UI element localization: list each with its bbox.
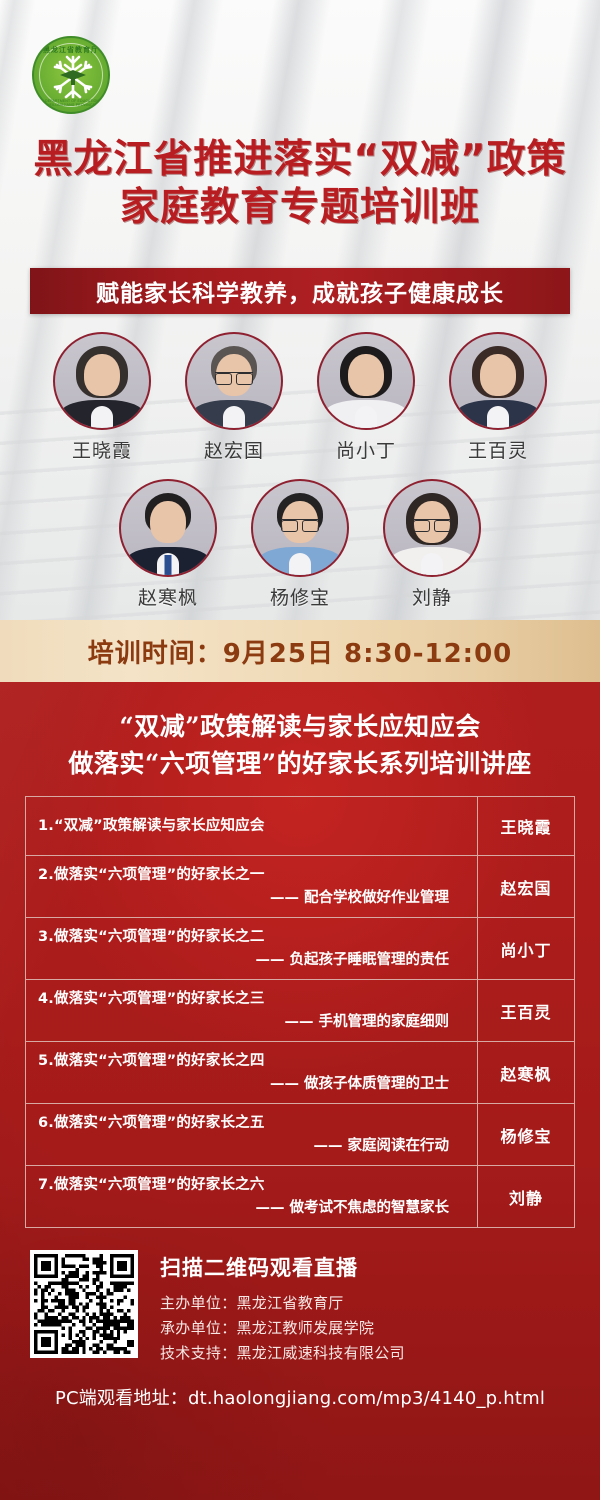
title-line-1: 黑龙江省推进落实“双减”政策	[0, 136, 600, 184]
speaker-portrait	[449, 332, 547, 430]
speaker-card: 刘静	[380, 479, 484, 610]
speaker-name: 王百灵	[446, 436, 550, 463]
portrait-face	[150, 501, 186, 543]
topic-speaker: 王百灵	[478, 980, 574, 1041]
pc-watch-url[interactable]: PC端观看地址：dt.haolongjiang.com/mp3/4140_p.h…	[0, 1384, 600, 1410]
topic-subtitle: —— 家庭阅读在行动	[38, 1136, 467, 1156]
speaker-card: 赵寒枫	[116, 479, 220, 610]
topic-cell: 6.做落实“六项管理”的好家长之五—— 家庭阅读在行动	[26, 1104, 478, 1165]
speaker-row-2: 赵寒枫杨修宝刘静	[0, 479, 600, 610]
training-time-banner: 培训时间：9月25日 8:30-12:00	[0, 620, 600, 682]
subtitle-text: 赋能家长科学教养，成就孩子健康成长	[96, 274, 504, 308]
speakers-section: 王晓霞赵宏国尚小丁王百灵 赵寒枫杨修宝刘静	[0, 332, 600, 610]
topic-cell: 1.“双减”政策解读与家长应知应会	[26, 797, 478, 855]
speaker-card: 赵宏国	[182, 332, 286, 463]
table-row: 5.做落实“六项管理”的好家长之四—— 做孩子体质管理的卫士赵寒枫	[26, 1042, 574, 1104]
logo-disc: 黑龙江省教育厅	[32, 36, 110, 114]
speaker-card: 尚小丁	[314, 332, 418, 463]
topic-cell: 5.做落实“六项管理”的好家长之四—— 做孩子体质管理的卫士	[26, 1042, 478, 1103]
speaker-portrait	[119, 479, 217, 577]
topic-speaker: 王晓霞	[478, 797, 574, 855]
table-row: 1.“双减”政策解读与家长应知应会王晓霞	[26, 797, 574, 856]
topic-title: 1.“双减”政策解读与家长应知应会	[38, 816, 467, 836]
topic-title: 3.做落实“六项管理”的好家长之二	[38, 927, 467, 947]
topic-speaker: 刘静	[478, 1166, 574, 1227]
program-heading: “双减”政策解读与家长应知应会 做落实“六项管理”的好家长系列培训讲座	[0, 682, 600, 782]
speaker-card: 杨修宝	[248, 479, 352, 610]
subtitle-banner: 赋能家长科学教养，成就孩子健康成长	[30, 268, 570, 314]
program-heading-line-1: “双减”政策解读与家长应知应会	[0, 708, 600, 745]
portrait-face	[480, 354, 516, 396]
topic-cell: 7.做落实“六项管理”的好家长之六—— 做考试不焦虑的智慧家长	[26, 1166, 478, 1227]
topic-speaker: 赵寒枫	[478, 1042, 574, 1103]
speaker-portrait	[185, 332, 283, 430]
speaker-name: 杨修宝	[248, 583, 352, 610]
portrait-collar	[421, 553, 443, 575]
portrait-collar	[91, 406, 113, 428]
table-row: 7.做落实“六项管理”的好家长之六—— 做考试不焦虑的智慧家长刘静	[26, 1166, 574, 1227]
topic-title: 4.做落实“六项管理”的好家长之三	[38, 989, 467, 1009]
speaker-name: 赵寒枫	[116, 583, 220, 610]
qr-code-livestream[interactable]	[30, 1250, 138, 1358]
qr-code-image	[34, 1254, 134, 1354]
topic-subtitle: —— 做考试不焦虑的智慧家长	[38, 1198, 467, 1218]
topic-cell: 2.做落实“六项管理”的好家长之一—— 配合学校做好作业管理	[26, 856, 478, 917]
topic-subtitle: —— 手机管理的家庭细则	[38, 1012, 467, 1032]
table-row: 6.做落实“六项管理”的好家长之五—— 家庭阅读在行动杨修宝	[26, 1104, 574, 1166]
topic-subtitle: —— 配合学校做好作业管理	[38, 888, 467, 908]
training-time-text: 培训时间：9月25日 8:30-12:00	[88, 633, 513, 670]
program-heading-line-2: 做落实“六项管理”的好家长系列培训讲座	[0, 745, 600, 782]
speaker-row-1: 王晓霞赵宏国尚小丁王百灵	[0, 332, 600, 463]
table-row: 4.做落实“六项管理”的好家长之三—— 手机管理的家庭细则王百灵	[26, 980, 574, 1042]
topic-subtitle: —— 负起孩子睡眠管理的责任	[38, 950, 467, 970]
speaker-name: 尚小丁	[314, 436, 418, 463]
co-organizer-line: 承办单位：黑龙江教师发展学院	[160, 1316, 405, 1341]
portrait-face	[84, 354, 120, 396]
organization-logo: 黑龙江省教育厅	[32, 36, 110, 114]
footer-section: 扫描二维码观看直播 主办单位：黑龙江省教育厅 承办单位：黑龙江教师发展学院 技术…	[0, 1250, 600, 1366]
tech-support-line: 技术支持：黑龙江威速科技有限公司	[160, 1341, 405, 1366]
scan-qr-title: 扫描二维码观看直播	[160, 1252, 405, 1282]
portrait-glasses	[413, 519, 451, 530]
organizer-line: 主办单位：黑龙江省教育厅	[160, 1291, 405, 1316]
speaker-card: 王百灵	[446, 332, 550, 463]
speaker-name: 王晓霞	[50, 436, 154, 463]
poster-root: 黑龙江省教育厅	[0, 0, 600, 1500]
portrait-collar	[223, 406, 245, 428]
program-section: “双减”政策解读与家长应知应会 做落实“六项管理”的好家长系列培训讲座 1.“双…	[0, 682, 600, 1500]
topic-cell: 4.做落实“六项管理”的好家长之三—— 手机管理的家庭细则	[26, 980, 478, 1041]
snowflake-graduation-icon	[45, 51, 101, 103]
table-row: 3.做落实“六项管理”的好家长之二—— 负起孩子睡眠管理的责任尚小丁	[26, 918, 574, 980]
portrait-glasses	[281, 519, 319, 530]
topic-speaker: 杨修宝	[478, 1104, 574, 1165]
poster-title: 黑龙江省推进落实“双减”政策 家庭教育专题培训班	[0, 136, 600, 232]
portrait-collar	[289, 553, 311, 575]
topic-subtitle: —— 做孩子体质管理的卫士	[38, 1074, 467, 1094]
speaker-name: 赵宏国	[182, 436, 286, 463]
topic-title: 7.做落实“六项管理”的好家长之六	[38, 1175, 467, 1195]
speaker-portrait	[53, 332, 151, 430]
topic-title: 6.做落实“六项管理”的好家长之五	[38, 1113, 467, 1133]
title-line-2: 家庭教育专题培训班	[0, 184, 600, 232]
topic-speaker: 赵宏国	[478, 856, 574, 917]
schedule-table: 1.“双减”政策解读与家长应知应会王晓霞2.做落实“六项管理”的好家长之一—— …	[25, 796, 575, 1228]
logo-org-name-en: THE DEPARTMENT OF EDUCATION OF HEILONGJI…	[34, 99, 108, 107]
footer-text-block: 扫描二维码观看直播 主办单位：黑龙江省教育厅 承办单位：黑龙江教师发展学院 技术…	[160, 1250, 405, 1366]
speaker-portrait	[251, 479, 349, 577]
topic-title: 5.做落实“六项管理”的好家长之四	[38, 1051, 467, 1071]
speaker-portrait	[317, 332, 415, 430]
table-row: 2.做落实“六项管理”的好家长之一—— 配合学校做好作业管理赵宏国	[26, 856, 574, 918]
topic-cell: 3.做落实“六项管理”的好家长之二—— 负起孩子睡眠管理的责任	[26, 918, 478, 979]
speaker-portrait	[383, 479, 481, 577]
portrait-necktie	[165, 555, 172, 575]
hero-section: 黑龙江省教育厅	[0, 0, 600, 685]
speaker-card: 王晓霞	[50, 332, 154, 463]
portrait-face	[348, 354, 384, 396]
topic-speaker: 尚小丁	[478, 918, 574, 979]
topic-title: 2.做落实“六项管理”的好家长之一	[38, 865, 467, 885]
portrait-glasses	[215, 372, 253, 383]
portrait-collar	[355, 406, 377, 428]
portrait-collar	[487, 406, 509, 428]
speaker-name: 刘静	[380, 583, 484, 610]
